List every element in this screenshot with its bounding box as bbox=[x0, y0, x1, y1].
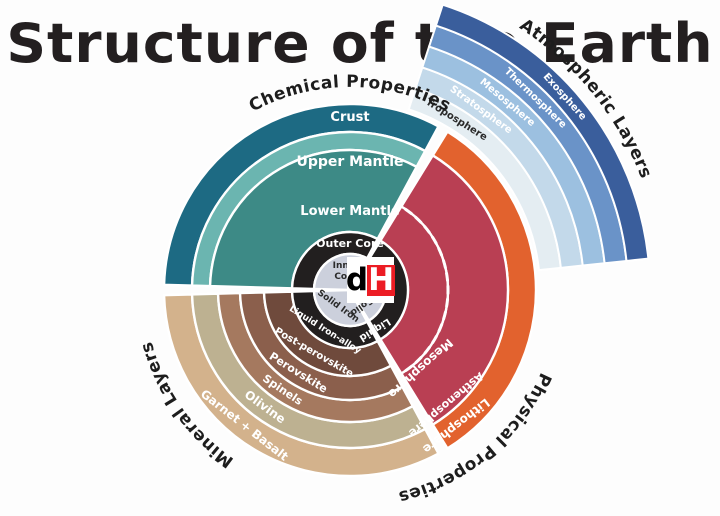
label-upper-mantle: Upper Mantle bbox=[296, 154, 403, 170]
logo-letter-h: H bbox=[367, 265, 395, 296]
logo-letter-d: d bbox=[346, 265, 368, 296]
label-crust: Crust bbox=[330, 110, 369, 125]
dh-logo: dH bbox=[348, 258, 393, 302]
label-outer-core: Outer Core bbox=[316, 237, 384, 250]
label-lower-mantle: Lower Mantle bbox=[300, 204, 400, 219]
diagram-canvas: Structure of the Earth CrustUpper Mantle… bbox=[0, 0, 720, 516]
